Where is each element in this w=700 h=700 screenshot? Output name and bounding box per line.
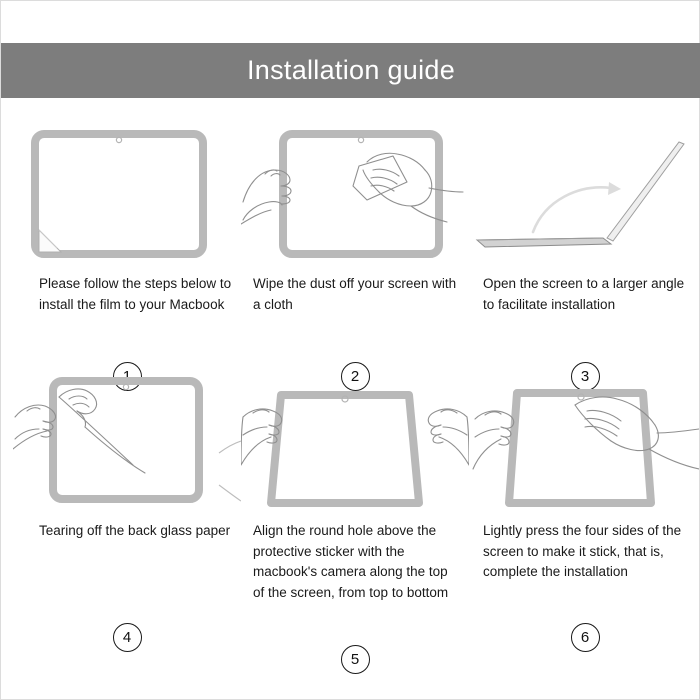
step-card-3: Open the screen to a larger angle to fac… <box>471 126 699 315</box>
step-card-1: Please follow the steps below to install… <box>13 126 241 315</box>
step-6-badge-wrap: 6 <box>471 623 699 652</box>
step-card-5: Align the round hole above the protectiv… <box>241 373 469 603</box>
step-card-4: Tearing off the back glass paper 4 <box>13 373 241 542</box>
step-3-illustration <box>471 126 699 266</box>
installation-guide-page: Installation guide Please follow the ste… <box>0 0 700 700</box>
step-3-caption: Open the screen to a larger angle to fac… <box>483 274 691 315</box>
step-5-badge-wrap: 5 <box>241 645 469 674</box>
step-2-caption: Wipe the dust off your screen with a clo… <box>253 274 458 315</box>
step-2-illustration <box>241 126 469 266</box>
step-6-caption: Lightly press the four sides of the scre… <box>483 521 691 583</box>
step-number-badge: 6 <box>571 623 600 652</box>
step-1-illustration <box>13 126 241 266</box>
header-banner: Installation guide <box>1 43 700 98</box>
page-title: Installation guide <box>247 57 455 84</box>
step-card-6: Lightly press the four sides of the scre… <box>471 373 699 583</box>
step-4-badge-wrap: 4 <box>13 623 241 652</box>
step-6-illustration <box>471 373 699 513</box>
step-number-badge: 4 <box>113 623 142 652</box>
step-5-caption: Align the round hole above the protectiv… <box>253 521 458 603</box>
step-1-caption: Please follow the steps below to install… <box>39 274 235 315</box>
step-4-illustration <box>13 373 241 513</box>
step-4-caption: Tearing off the back glass paper <box>39 521 235 542</box>
step-card-2: Wipe the dust off your screen with a clo… <box>241 126 469 315</box>
step-5-illustration <box>241 373 469 513</box>
steps-grid: Please follow the steps below to install… <box>1 111 700 671</box>
step-number-badge: 5 <box>341 645 370 674</box>
